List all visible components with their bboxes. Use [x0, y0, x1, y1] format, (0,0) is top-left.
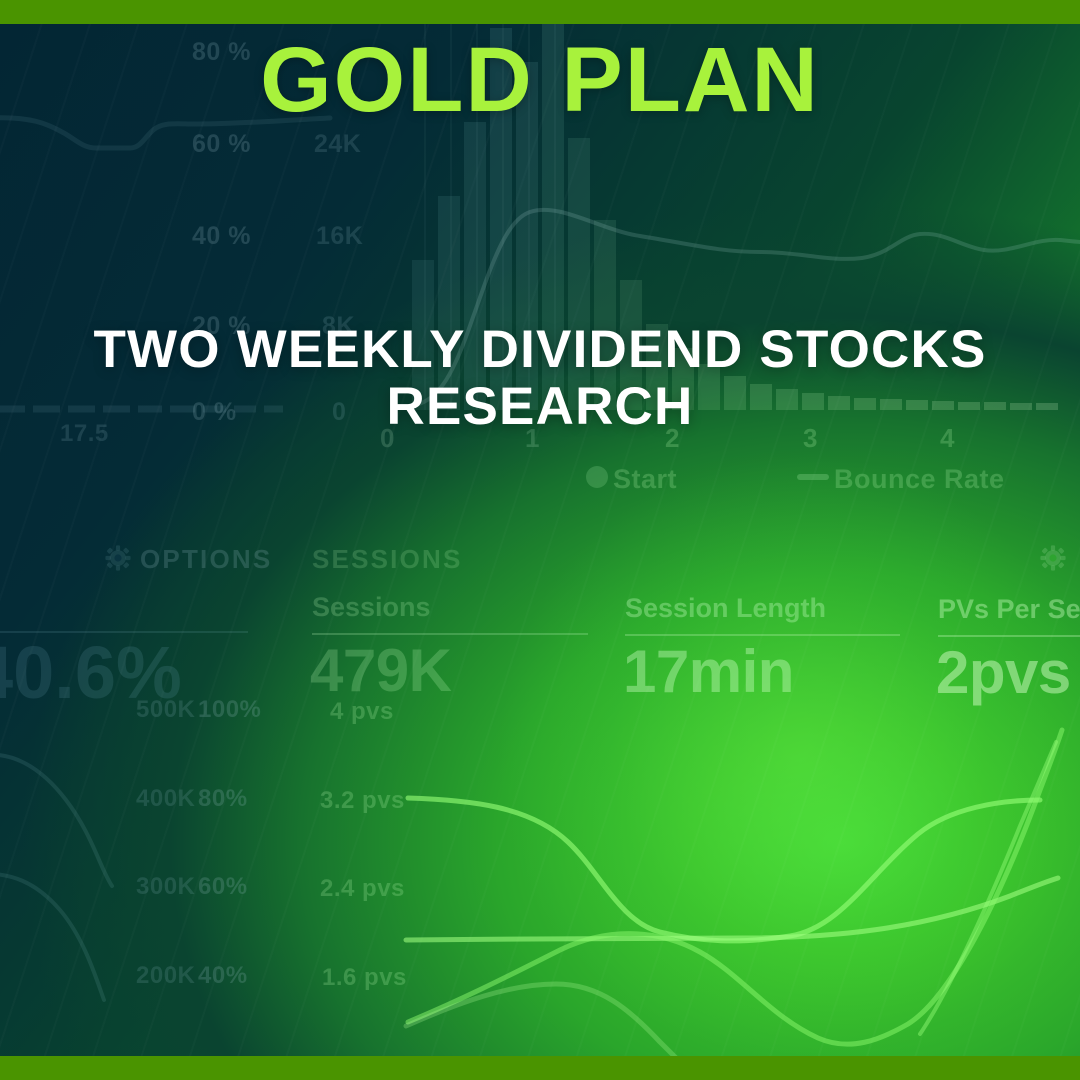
- panel-label-options: OPTIONS: [140, 544, 272, 575]
- legend-dot-marker: [586, 466, 608, 488]
- promo-poster: 80 % 60 % 40 % 20 % 0 % 24K 16K 8K 0 17.…: [0, 0, 1080, 1080]
- page-subtitle: TWO WEEKLY DIVIDEND STOCKS RESEARCH: [40, 322, 1040, 435]
- kpi-value-sessions: 479K: [310, 636, 451, 705]
- sessions-trend-lines: [406, 730, 1062, 1080]
- kpi-value-pvs-per-session: 2pvs: [936, 638, 1071, 707]
- subtitle-line-1: TWO WEEKLY DIVIDEND STOCKS: [93, 320, 986, 379]
- gear-icon-options: [105, 545, 130, 570]
- subtitle-line-2: RESEARCH: [386, 377, 693, 436]
- background-chart-artwork: [0, 0, 1080, 1080]
- kpi-title-sessions: Sessions: [312, 592, 431, 623]
- gear-icon-sessions: [1040, 545, 1065, 570]
- top-accent-bar: [0, 0, 1080, 24]
- bottom-accent-bar: [0, 1056, 1080, 1080]
- kpi-value-session-length: 17min: [623, 637, 794, 706]
- left-panel-trend-lines: [0, 755, 112, 1000]
- panel-label-sessions: SESSIONS: [312, 544, 463, 575]
- page-title: GOLD PLAN: [0, 34, 1080, 126]
- options-big-value: 40.6%: [0, 630, 182, 715]
- kpi-title-pvs-per-session: PVs Per Session: [938, 594, 1080, 625]
- kpi-title-session-length: Session Length: [625, 593, 826, 624]
